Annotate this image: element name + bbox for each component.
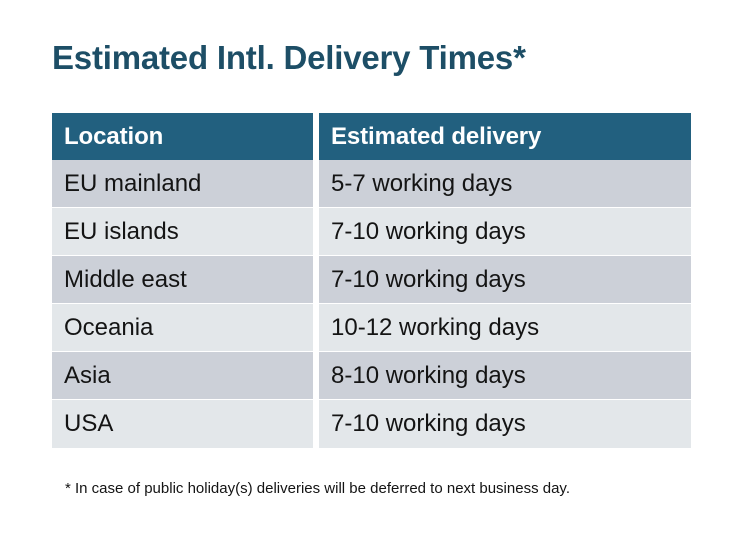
cell-location: Oceania	[52, 304, 313, 352]
table-row: EU mainland 5-7 working days	[52, 160, 691, 208]
column-header-estimated-delivery: Estimated delivery	[319, 113, 691, 160]
table-row: USA 7-10 working days	[52, 400, 691, 448]
table-row: Oceania 10-12 working days	[52, 304, 691, 352]
cell-delivery: 7-10 working days	[319, 256, 691, 304]
table-row: Asia 8-10 working days	[52, 352, 691, 400]
cell-delivery: 7-10 working days	[319, 208, 691, 256]
delivery-times-table: Location Estimated delivery EU mainland …	[52, 113, 691, 448]
cell-delivery: 5-7 working days	[319, 160, 691, 208]
table-header-row: Location Estimated delivery	[52, 113, 691, 160]
cell-location: Asia	[52, 352, 313, 400]
cell-location: EU mainland	[52, 160, 313, 208]
cell-location: EU islands	[52, 208, 313, 256]
cell-location: USA	[52, 400, 313, 448]
column-header-location: Location	[52, 113, 313, 160]
cell-delivery: 7-10 working days	[319, 400, 691, 448]
delivery-times-page: Estimated Intl. Delivery Times* Location…	[0, 0, 745, 536]
cell-delivery: 10-12 working days	[319, 304, 691, 352]
cell-location: Middle east	[52, 256, 313, 304]
table-row: Middle east 7-10 working days	[52, 256, 691, 304]
page-title: Estimated Intl. Delivery Times*	[52, 38, 526, 78]
table-body: EU mainland 5-7 working days EU islands …	[52, 160, 691, 448]
footnote: * In case of public holiday(s) deliverie…	[65, 479, 570, 499]
table-row: EU islands 7-10 working days	[52, 208, 691, 256]
table-header: Location Estimated delivery	[52, 113, 691, 160]
cell-delivery: 8-10 working days	[319, 352, 691, 400]
